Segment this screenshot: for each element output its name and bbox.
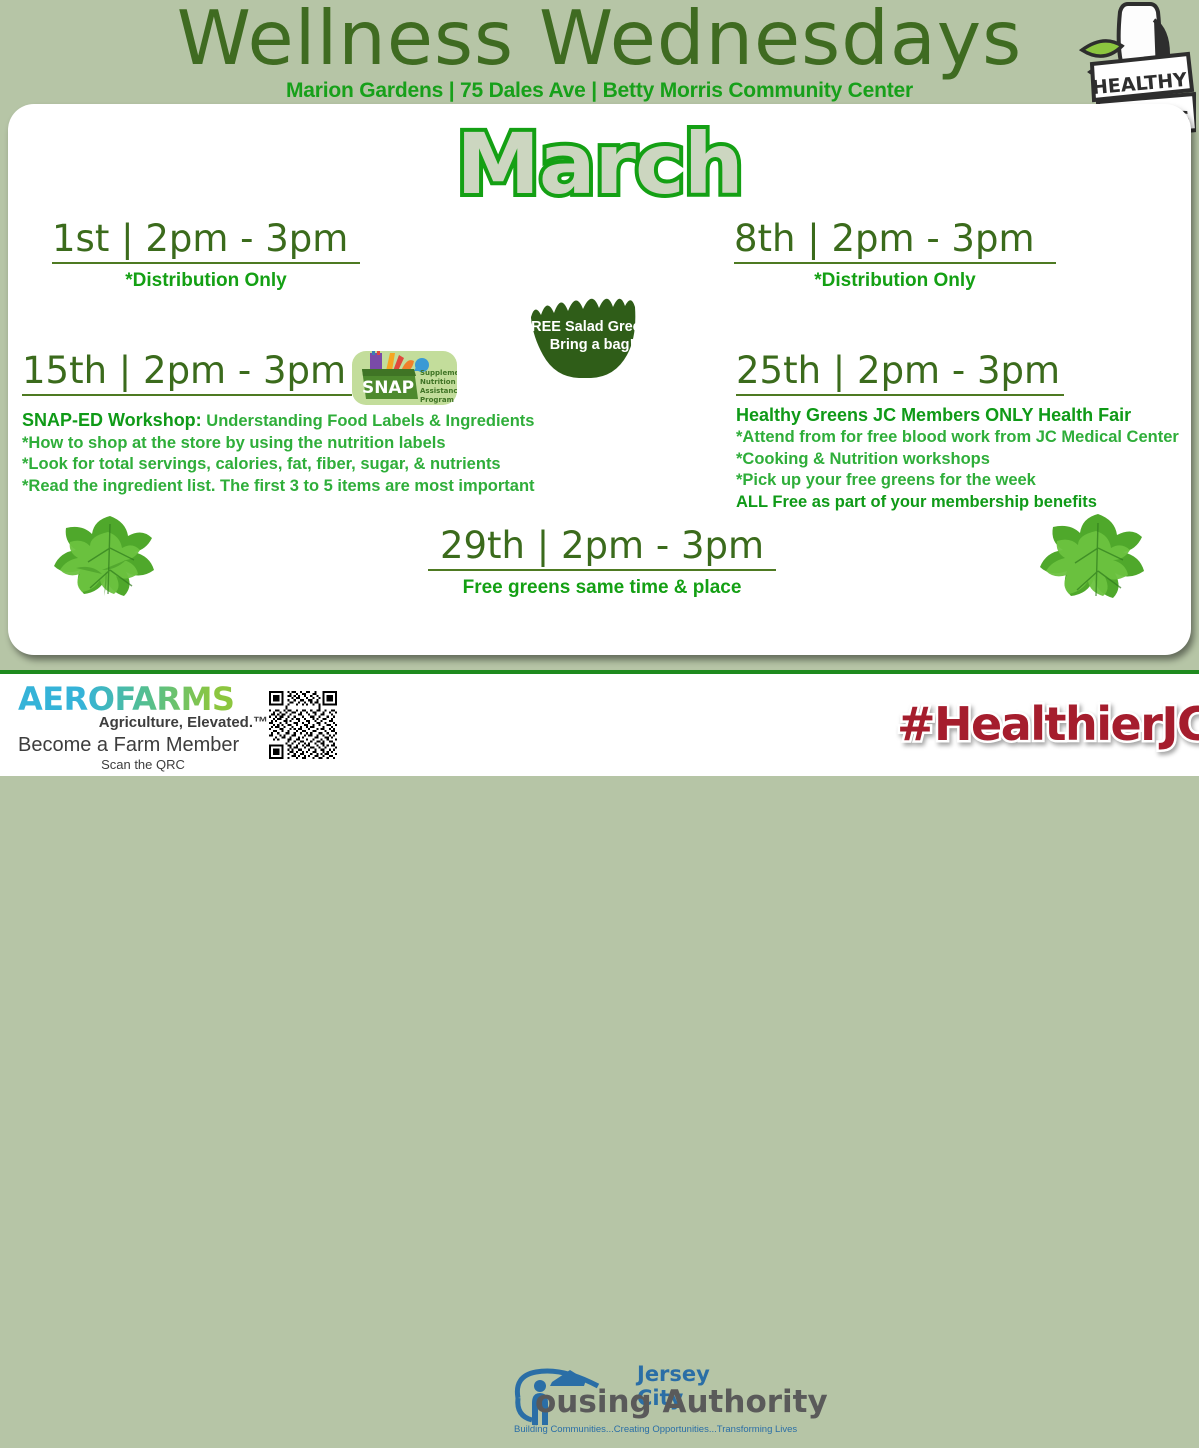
jcha-logo: Jersey City ousing Authority Building Co… [500,1360,760,1448]
qr-code[interactable] [269,691,337,759]
event-rule [734,262,1056,264]
bullet-item: *Pick up your free greens for the week [736,470,1191,492]
event-block-25th: 25th | 2pm - 3pm [736,349,1064,396]
salad-greens-image-left [30,498,190,643]
salad-greens-image-right [1015,496,1181,646]
page-title: Wellness Wednesdays [0,0,1199,80]
jcha-housing-authority: ousing Authority [535,1384,828,1420]
snap-ed-lead-bold: SNAP-ED Workshop: [22,410,202,430]
event-subtitle: *Distribution Only [734,269,1056,293]
event-rule [22,394,352,396]
event-block-15th: 15th | 2pm - 3pm [22,349,352,396]
event-block-29th: 29th | 2pm - 3pm Free greens same time &… [428,524,776,600]
event-subtitle: Free greens same time & place [428,576,776,600]
aerofarms-logo: AEROFARMS Agriculture, Elevated.™ Become… [18,682,268,773]
venue-subtitle: Marion Gardens | 75 Dales Ave | Betty Mo… [0,79,1199,103]
snap-logo-word: SNAP [362,378,414,398]
bullet-item: *How to shop at the store by using the n… [22,433,542,455]
snap-logo-line1: Supplemental [420,369,457,377]
free-salad-greens-badge: FREE Salad Greens. Bring a bag! [513,285,671,391]
aerofarms-wordmark: AEROFARMS [18,682,268,716]
month-heading: March [8,116,1191,212]
health-fair-lead: Healthy Greens JC Members ONLY Health Fa… [736,404,1191,427]
snap-logo-line2: Nutrition [420,378,456,386]
aerofarms-member-cta: Become a Farm Member [18,733,268,757]
event-rule [52,262,360,264]
event-subtitle: *Distribution Only [52,269,360,293]
event-rule [428,569,776,571]
salad-badge-line1: FREE Salad Greens. [513,318,671,336]
bullet-item: *Read the ingredient list. The first 3 t… [22,476,542,498]
snap-ed-lead: SNAP-ED Workshop: Understanding Food Lab… [22,409,542,433]
event-details-15th: SNAP-ED Workshop: Understanding Food Lab… [22,409,542,497]
event-heading: 15th | 2pm - 3pm [22,349,352,393]
snap-ed-lead-rest: Understanding Food Labels & Ingredients [202,412,535,430]
aerofarms-scan-note: Scan the QRC [18,757,268,773]
aerofarms-word-text: AEROFARMS [18,680,234,718]
bullet-item: *Look for total servings, calories, fat,… [22,454,542,476]
event-block-8th: 8th | 2pm - 3pm *Distribution Only [734,217,1056,293]
bullet-item: *Attend from for free blood work from JC… [736,427,1191,449]
event-heading: 29th | 2pm - 3pm [428,524,776,568]
jcha-tagline: Building Communities...Creating Opportun… [514,1424,797,1436]
event-rule [736,394,1064,396]
event-block-1st: 1st | 2pm - 3pm *Distribution Only [52,217,360,293]
salad-badge-text: FREE Salad Greens. Bring a bag! [513,318,671,354]
event-heading: 8th | 2pm - 3pm [734,217,1056,261]
poster-footer: AEROFARMS Agriculture, Elevated.™ Become… [0,674,1199,776]
snap-logo-line3: Assistance [420,387,457,395]
snap-logo-line4: Program [420,396,454,404]
event-heading: 1st | 2pm - 3pm [52,217,360,261]
snap-logo: SNAP Supplemental Nutrition Assistance P… [352,347,457,409]
salad-badge-line2: Bring a bag! [513,336,671,354]
event-heading: 25th | 2pm - 3pm [736,349,1064,393]
poster-header: Wellness Wednesdays Marion Gardens | 75 … [0,0,1199,104]
calendar-card: March 1st | 2pm - 3pm *Distribution Only… [8,104,1191,655]
hashtag-healthierjc: #HealthierJC [897,694,1187,756]
bullet-item: *Cooking & Nutrition workshops [736,449,1191,471]
